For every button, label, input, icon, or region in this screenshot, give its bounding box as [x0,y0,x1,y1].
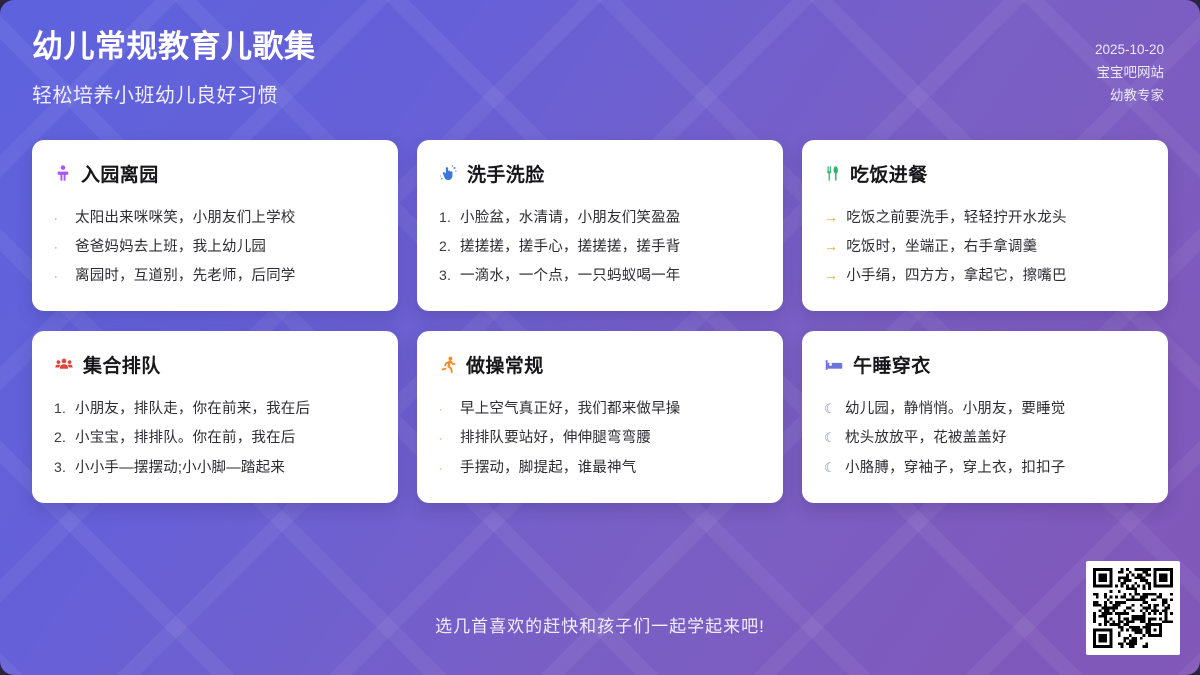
card-title: 集合排队 [83,351,161,378]
card-title: 做操常规 [466,351,544,378]
line-marker-icon: · [54,240,67,257]
rhyme-line-text: 小脸盆，水清请，小朋友们笑盈盈 [460,207,681,229]
rhyme-line-list: ·太阳出来咪咪笑，小朋友们上学校·爸爸妈妈去上班，我上幼儿园·离园时，互道别，先… [54,203,376,291]
rhyme-line: 2.小宝宝，排排队。你在前，我在后 [54,424,376,453]
rhyme-line-list: 1.小脸盆，水清请，小朋友们笑盈盈2.搓搓搓，搓手心，搓搓搓，搓手背3.一滴水，… [439,203,761,291]
bed-icon [824,356,844,374]
rhyme-line-text: 枕头放放平，花被盖盖好 [845,427,1007,449]
card-header: 吃饭进餐 [824,160,1146,187]
rhyme-line-list: →吃饭之前要洗手，轻轻拧开水龙头→吃饭时，坐端正，右手拿调羹→小手绢，四方方，拿… [824,203,1146,291]
standing-person-icon [54,164,72,183]
rhyme-line-text: 小胳膊，穿袖子，穿上衣，扣扣子 [845,457,1066,479]
qr-code-canvas [1093,568,1173,648]
line-marker-icon: · [54,211,67,228]
card-header: 集合排队 [54,351,376,378]
rhyme-line: 2.搓搓搓，搓手心，搓搓搓，搓手背 [439,232,761,261]
rhyme-line-text: 吃饭之前要洗手，轻轻拧开水龙头 [846,207,1067,229]
line-marker-icon: ☾ [824,428,837,448]
rhyme-line-text: 吃饭时，坐端正，右手拿调羹 [846,236,1037,258]
card-header: 入园离园 [54,160,376,187]
rhyme-line-text: 排排队要站好，伸伸腿弯弯腰 [460,427,651,449]
washing-hands-icon [439,164,458,183]
line-marker-icon: · [439,461,452,478]
header-meta: 2025-10-20 宝宝吧网站 幼教专家 [1095,28,1164,108]
line-marker-icon: 1. [439,207,452,229]
card-header: 午睡穿衣 [824,351,1146,378]
rhyme-line-text: 小朋友，排队走，你在前来，我在后 [75,398,310,420]
rhyme-card: 洗手洗脸1.小脸盆，水清请，小朋友们笑盈盈2.搓搓搓，搓手心，搓搓搓，搓手背3.… [417,140,783,311]
rhyme-line: ·离园时，互道别，先老师，后同学 [54,262,376,291]
rhyme-line-text: 小小手—摆摆动;小小脚—踏起来 [75,457,285,479]
rhyme-line: ☾小胳膊，穿袖子，穿上衣，扣扣子 [824,453,1146,482]
rhyme-line: ·手摆动，脚提起，谁最神气 [439,453,761,482]
rhyme-line: ·排排队要站好，伸伸腿弯弯腰 [439,424,761,453]
fork-and-knife-icon [824,164,841,183]
line-marker-icon: ☾ [824,458,837,478]
header-site: 宝宝吧网站 [1095,61,1164,84]
rhyme-line-list: 1.小朋友，排队走，你在前来，我在后2.小宝宝，排排队。你在前，我在后3.小小手… [54,394,376,482]
line-marker-icon: ☾ [824,399,837,419]
line-marker-icon: · [54,269,67,286]
line-marker-icon: → [824,236,838,258]
page-subtitle: 轻松培养小班幼儿良好习惯 [32,79,316,108]
rhyme-line-text: 一滴水，一个点，一只蚂蚁喝一年 [460,265,681,287]
rhyme-line: ·太阳出来咪咪笑，小朋友们上学校 [54,203,376,232]
rhyme-line: ☾枕头放放平，花被盖盖好 [824,424,1146,453]
rhyme-line-text: 手摆动，脚提起，谁最神气 [460,457,636,479]
line-marker-icon: 3. [54,457,67,479]
header-author: 幼教专家 [1095,84,1164,107]
line-marker-icon: 1. [54,398,67,420]
rhyme-line-list: ☾幼儿园，静悄悄。小朋友，要睡觉☾枕头放放平，花被盖盖好☾小胳膊，穿袖子，穿上衣… [824,394,1146,482]
rhyme-line: ☾幼儿园，静悄悄。小朋友，要睡觉 [824,394,1146,423]
card-title: 吃饭进餐 [850,160,928,187]
rhyme-line: ·早上空气真正好，我们都来做早操 [439,394,761,423]
rhyme-line-text: 搓搓搓，搓手心，搓搓搓，搓手背 [460,236,681,258]
qr-code[interactable] [1086,561,1180,655]
rhyme-line-text: 幼儿园，静悄悄。小朋友，要睡觉 [845,398,1066,420]
rhyme-line-text: 小手绢，四方方，拿起它，擦嘴巴 [846,265,1067,287]
card-title: 洗手洗脸 [467,160,545,187]
card-title: 午睡穿衣 [853,351,931,378]
card-header: 做操常规 [439,351,761,378]
line-marker-icon: 2. [439,236,452,258]
cards-grid: 入园离园·太阳出来咪咪笑，小朋友们上学校·爸爸妈妈去上班，我上幼儿园·离园时，互… [32,140,1168,503]
line-marker-icon: → [824,265,838,287]
header-left: 幼儿常规教育儿歌集 轻松培养小班幼儿良好习惯 [32,28,316,108]
card-header: 洗手洗脸 [439,160,761,187]
rhyme-line-text: 早上空气真正好，我们都来做早操 [460,398,681,420]
people-group-icon [54,356,74,374]
line-marker-icon: → [824,207,838,229]
rhyme-line: →吃饭时，坐端正，右手拿调羹 [824,232,1146,261]
rhyme-card: 做操常规·早上空气真正好，我们都来做早操·排排队要站好，伸伸腿弯弯腰·手摆动，脚… [417,331,783,502]
rhyme-card: 集合排队1.小朋友，排队走，你在前来，我在后2.小宝宝，排排队。你在前，我在后3… [32,331,398,502]
line-marker-icon: 2. [54,427,67,449]
rhyme-line-text: 小宝宝，排排队。你在前，我在后 [75,427,296,449]
rhyme-card: 吃饭进餐→吃饭之前要洗手，轻轻拧开水龙头→吃饭时，坐端正，右手拿调羹→小手绢，四… [802,140,1168,311]
rhyme-card: 午睡穿衣☾幼儿园，静悄悄。小朋友，要睡觉☾枕头放放平，花被盖盖好☾小胳膊，穿袖子… [802,331,1168,502]
rhyme-line-text: 太阳出来咪咪笑，小朋友们上学校 [75,207,296,229]
card-title: 入园离园 [81,160,159,187]
poster-header: 幼儿常规教育儿歌集 轻松培养小班幼儿良好习惯 2025-10-20 宝宝吧网站 … [0,0,1200,128]
line-marker-icon: · [439,402,452,419]
rhyme-line: →小手绢，四方方，拿起它，擦嘴巴 [824,262,1146,291]
running-person-icon [439,355,457,374]
footer-note: 选几首喜欢的赶快和孩子们一起学起来吧! [0,612,1200,637]
rhyme-line: 3.小小手—摆摆动;小小脚—踏起来 [54,453,376,482]
rhyme-line: →吃饭之前要洗手，轻轻拧开水龙头 [824,203,1146,232]
rhyme-line: ·爸爸妈妈去上班，我上幼儿园 [54,232,376,261]
rhyme-line-text: 爸爸妈妈去上班，我上幼儿园 [75,236,266,258]
header-date: 2025-10-20 [1095,38,1164,61]
page-title: 幼儿常规教育儿歌集 [32,28,316,67]
poster-root: 幼儿常规教育儿歌集 轻松培养小班幼儿良好习惯 2025-10-20 宝宝吧网站 … [0,0,1200,675]
line-marker-icon: · [439,431,452,448]
rhyme-line: 1.小脸盆，水清请，小朋友们笑盈盈 [439,203,761,232]
rhyme-line: 1.小朋友，排队走，你在前来，我在后 [54,394,376,423]
rhyme-card: 入园离园·太阳出来咪咪笑，小朋友们上学校·爸爸妈妈去上班，我上幼儿园·离园时，互… [32,140,398,311]
rhyme-line: 3.一滴水，一个点，一只蚂蚁喝一年 [439,262,761,291]
rhyme-line-list: ·早上空气真正好，我们都来做早操·排排队要站好，伸伸腿弯弯腰·手摆动，脚提起，谁… [439,394,761,482]
rhyme-line-text: 离园时，互道别，先老师，后同学 [75,265,296,287]
line-marker-icon: 3. [439,265,452,287]
